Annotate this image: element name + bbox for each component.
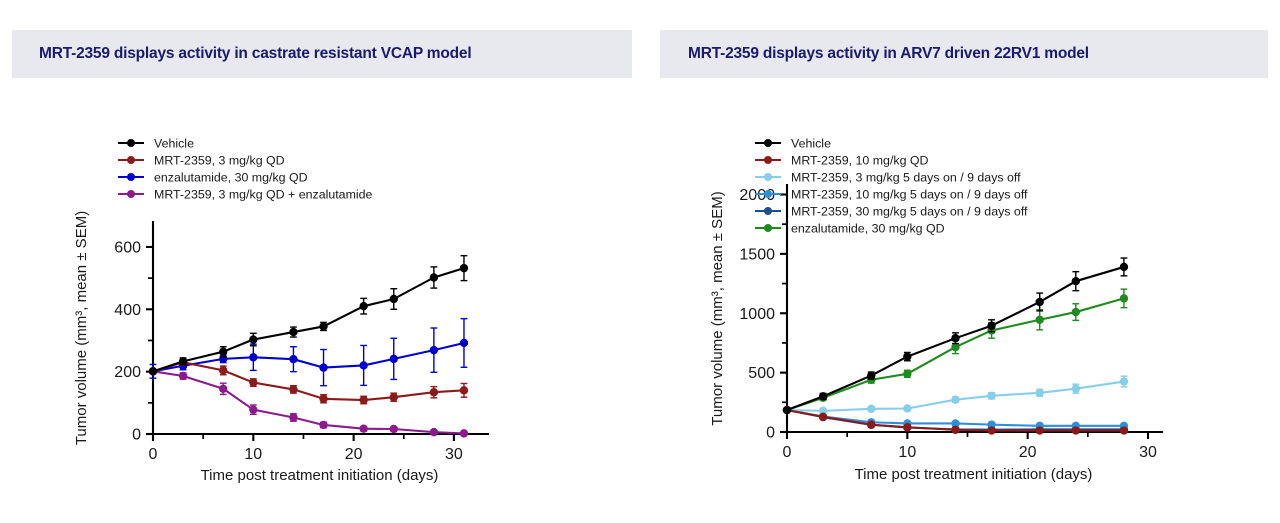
line-chart-vcap: 02004006000102030Time post treatment ini… [60,105,540,505]
chart-figure-22rv1: 05001000150020000102030Time post treatme… [700,105,1180,505]
line-chart-22rv1: 05001000150020000102030Time post treatme… [700,105,1180,505]
data-point [987,426,995,434]
data-point [359,361,367,369]
y-tick-label: 400 [114,302,141,319]
data-point [819,413,827,421]
legend-label: MRT-2359, 3 mg/kg 5 days on / 9 days off [791,170,1021,184]
data-point [249,353,257,361]
legend-swatch-marker [764,224,772,232]
data-point [430,346,438,354]
data-point [903,404,911,412]
x-tick-label: 10 [898,444,916,461]
data-point [430,273,438,281]
data-point [1120,377,1128,385]
series-1 [149,256,468,376]
data-point [903,352,911,360]
chart-legend: VehicleMRT-2359, 3 mg/kg QDenzalutamide,… [118,136,373,201]
legend-label: Vehicle [154,136,194,150]
y-tick-label: 200 [114,364,141,381]
data-point [430,428,438,436]
data-point [179,372,187,380]
data-point [249,405,257,413]
data-point [249,335,257,343]
data-point [903,370,911,378]
data-point [460,264,468,272]
data-point [1036,316,1044,324]
data-point [951,396,959,404]
chart-figure-vcap: 02004006000102030Time post treatment ini… [60,105,540,505]
data-point [951,426,959,434]
legend-swatch-marker [764,139,772,147]
data-point [1120,263,1128,271]
data-point [319,421,327,429]
data-point [903,423,911,431]
data-point [219,366,227,374]
series-3 [783,376,1128,415]
legend-swatch-marker [127,139,135,147]
legend-swatch-marker [127,156,135,164]
data-point [219,347,227,355]
data-point [867,371,875,379]
data-point [319,322,327,330]
data-point [359,425,367,433]
legend-label: MRT-2359, 30 mg/kg 5 days on / 9 days of… [791,204,1028,218]
series-4 [149,367,468,437]
legend-label: enzalutamide, 30 mg/kg QD [791,221,945,235]
data-point [430,388,438,396]
data-point [867,420,875,428]
y-tick-label: 1000 [739,306,775,323]
data-point [1072,426,1080,434]
data-point [359,396,367,404]
data-point [289,355,297,363]
data-point [219,385,227,393]
data-point [1072,384,1080,392]
data-point [783,406,791,414]
data-point [1120,426,1128,434]
y-tick-label: 1500 [739,246,775,263]
data-point [1036,426,1044,434]
data-point [819,392,827,400]
legend-swatch-marker [127,190,135,198]
data-point [390,425,398,433]
data-point [951,334,959,342]
legend-swatch-marker [764,190,772,198]
legend-swatch-marker [764,207,772,215]
data-point [987,392,995,400]
data-point [1072,277,1080,285]
data-point [319,363,327,371]
legend-label: MRT-2359, 3 mg/kg QD [154,153,285,167]
x-tick-label: 30 [445,446,463,463]
slide-canvas: MRT-2359 displays activity in castrate r… [0,0,1280,523]
x-tick-label: 0 [149,446,158,463]
data-point [390,393,398,401]
data-point [319,395,327,403]
data-point [390,355,398,363]
x-axis-title: Time post treatment initiation (days) [855,466,1093,483]
legend-swatch-marker [764,156,772,164]
panel-title-left: MRT-2359 displays activity in castrate r… [12,45,471,63]
series-line [153,371,464,433]
x-tick-label: 20 [1019,444,1037,461]
legend-label: Vehicle [791,136,831,150]
chart-legend: VehicleMRT-2359, 10 mg/kg QDMRT-2359, 3 … [755,136,1028,235]
data-point [289,385,297,393]
series-line [153,268,464,371]
data-point [359,302,367,310]
x-axis-title: Time post treatment initiation (days) [201,467,439,484]
data-point [987,322,995,330]
x-tick-label: 0 [783,444,792,461]
panel-title-banner-left: MRT-2359 displays activity in castrate r… [12,30,632,78]
y-axis-title: Tumor volume (mm³, mean ± SEM) [709,191,726,425]
legend-swatch-marker [127,173,135,181]
data-point [249,378,257,386]
legend-swatch-marker [764,173,772,181]
data-point [149,367,157,375]
data-point [1036,389,1044,397]
y-axis-title: Tumor volume (mm³, mean ± SEM) [73,211,90,445]
legend-label: MRT-2359, 3 mg/kg QD + enzalutamide [154,187,373,201]
legend-label: MRT-2359, 10 mg/kg 5 days on / 9 days of… [791,187,1028,201]
y-tick-label: 500 [748,365,775,382]
data-point [289,328,297,336]
data-point [460,429,468,437]
panel-title-banner-right: MRT-2359 displays activity in ARV7 drive… [660,30,1268,78]
series-6 [783,289,1128,414]
data-point [1120,294,1128,302]
y-tick-label: 600 [114,239,141,256]
legend-label: enzalutamide, 30 mg/kg QD [154,170,308,184]
x-tick-label: 30 [1139,444,1157,461]
y-tick-label: 0 [766,425,775,442]
data-point [1072,308,1080,316]
data-point [867,405,875,413]
x-tick-label: 10 [244,446,262,463]
data-point [1036,298,1044,306]
data-point [390,295,398,303]
y-tick-label: 0 [132,427,141,444]
data-point [179,357,187,365]
panel-title-right: MRT-2359 displays activity in ARV7 drive… [660,45,1089,63]
data-point [289,413,297,421]
data-point [460,386,468,394]
x-tick-label: 20 [345,446,363,463]
data-point [460,339,468,347]
legend-label: MRT-2359, 10 mg/kg QD [791,153,929,167]
